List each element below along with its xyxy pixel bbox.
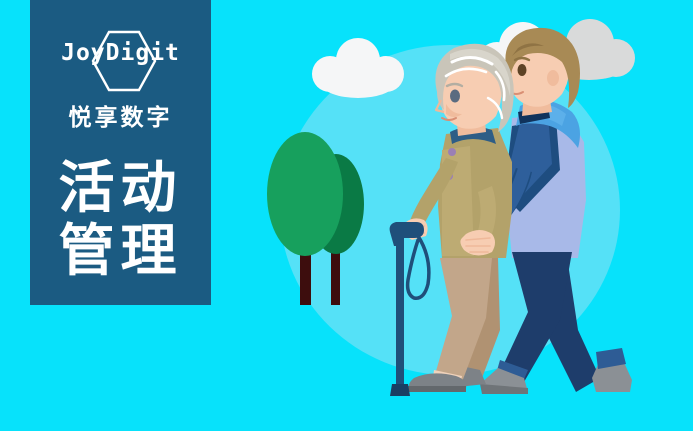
brand-name-cn: 悦享数字: [69, 98, 173, 132]
logo-wordmark: JoyDigit: [53, 42, 188, 65]
poster-canvas: JoyDigit 悦享数字 活动 管理: [0, 0, 693, 431]
page-title-line-1: 活动: [59, 158, 183, 221]
brand-panel: JoyDigit 悦享数字 活动 管理: [30, 0, 211, 305]
page-title: 活动 管理: [59, 158, 183, 283]
logo-block: JoyDigit: [53, 30, 188, 92]
cloud-left: [312, 38, 404, 98]
page-title-line-2: 管理: [59, 221, 183, 284]
